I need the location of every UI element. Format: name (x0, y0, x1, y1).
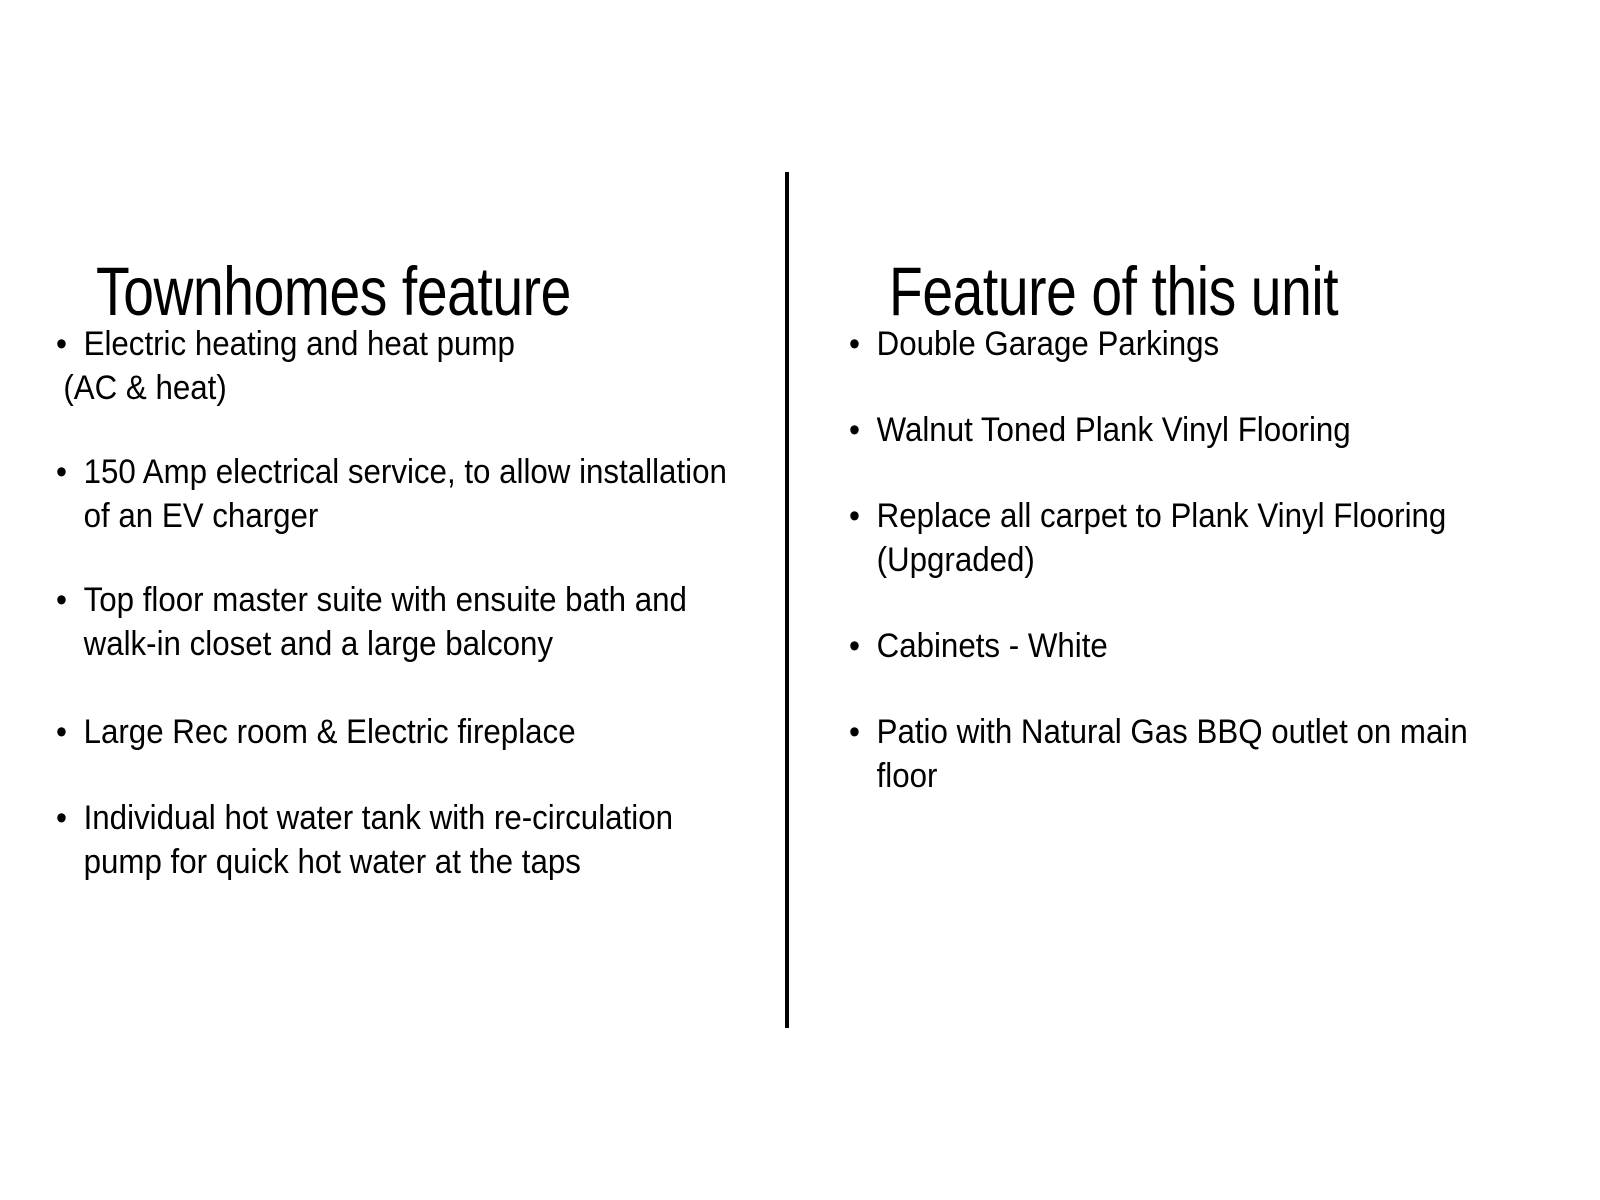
bullet-point-icon: • (849, 408, 877, 452)
bullet-point-icon: • (56, 322, 84, 366)
bullet-item: •Walnut Toned Plank Vinyl Flooring (849, 408, 1530, 452)
bullet-item: •Electric heating and heat pump(AC & hea… (56, 322, 728, 410)
bullet-text: Cabinets - White (877, 624, 1530, 668)
bullet-point-icon: • (56, 710, 84, 754)
slide-canvas: Townhomes feature •Electric heating and … (0, 0, 1600, 1200)
bullet-text: Electric heating and heat pump (84, 322, 728, 366)
bullet-point-icon: • (56, 796, 84, 840)
bullet-text: Double Garage Parkings (877, 322, 1530, 366)
bullet-item: •Replace all carpet to Plank Vinyl Floor… (849, 494, 1530, 582)
bullet-point-icon: • (849, 624, 877, 668)
bullet-item: •Individual hot water tank with re-circu… (56, 796, 728, 884)
bullet-text-continuation: of an EV charger (84, 494, 728, 538)
bullet-item: •Cabinets - White (849, 624, 1530, 668)
bullet-text: Large Rec room & Electric fireplace (84, 710, 728, 754)
bullet-point-icon: • (849, 710, 877, 754)
bullet-item: •Large Rec room & Electric fireplace (56, 710, 728, 754)
bullet-text: 150 Amp electrical service, to allow ins… (84, 450, 728, 494)
bullet-text-continuation: pump for quick hot water at the taps (84, 840, 728, 884)
bullet-point-icon: • (56, 578, 84, 622)
bullet-item: •Top floor master suite with ensuite bat… (56, 578, 728, 666)
bullet-text-continuation: (Upgraded) (877, 538, 1530, 582)
column-right-bullet-list: •Double Garage Parkings•Walnut Toned Pla… (849, 322, 1589, 840)
bullet-text: Individual hot water tank with re-circul… (84, 796, 728, 840)
bullet-point-icon: • (849, 322, 877, 366)
bullet-point-icon: • (849, 494, 877, 538)
bullet-text: Walnut Toned Plank Vinyl Flooring (877, 408, 1530, 452)
bullet-text: Replace all carpet to Plank Vinyl Floori… (877, 494, 1530, 538)
bullet-item: •Patio with Natural Gas BBQ outlet on ma… (849, 710, 1530, 798)
bullet-text-continuation: (AC & heat) (63, 366, 727, 410)
column-left-title: Townhomes feature (96, 252, 571, 332)
column-right-title: Feature of this unit (889, 252, 1338, 332)
bullet-item: •150 Amp electrical service, to allow in… (56, 450, 728, 538)
bullet-text: Patio with Natural Gas BBQ outlet on mai… (877, 710, 1530, 754)
bullet-text-continuation: walk-in closet and a large balcony (84, 622, 728, 666)
column-left-bullet-list: •Electric heating and heat pump(AC & hea… (56, 322, 786, 884)
bullet-text: Top floor master suite with ensuite bath… (84, 578, 728, 622)
bullet-point-icon: • (56, 450, 84, 494)
bullet-item: •Double Garage Parkings (849, 322, 1530, 366)
bullet-text-continuation: floor (877, 754, 1530, 798)
